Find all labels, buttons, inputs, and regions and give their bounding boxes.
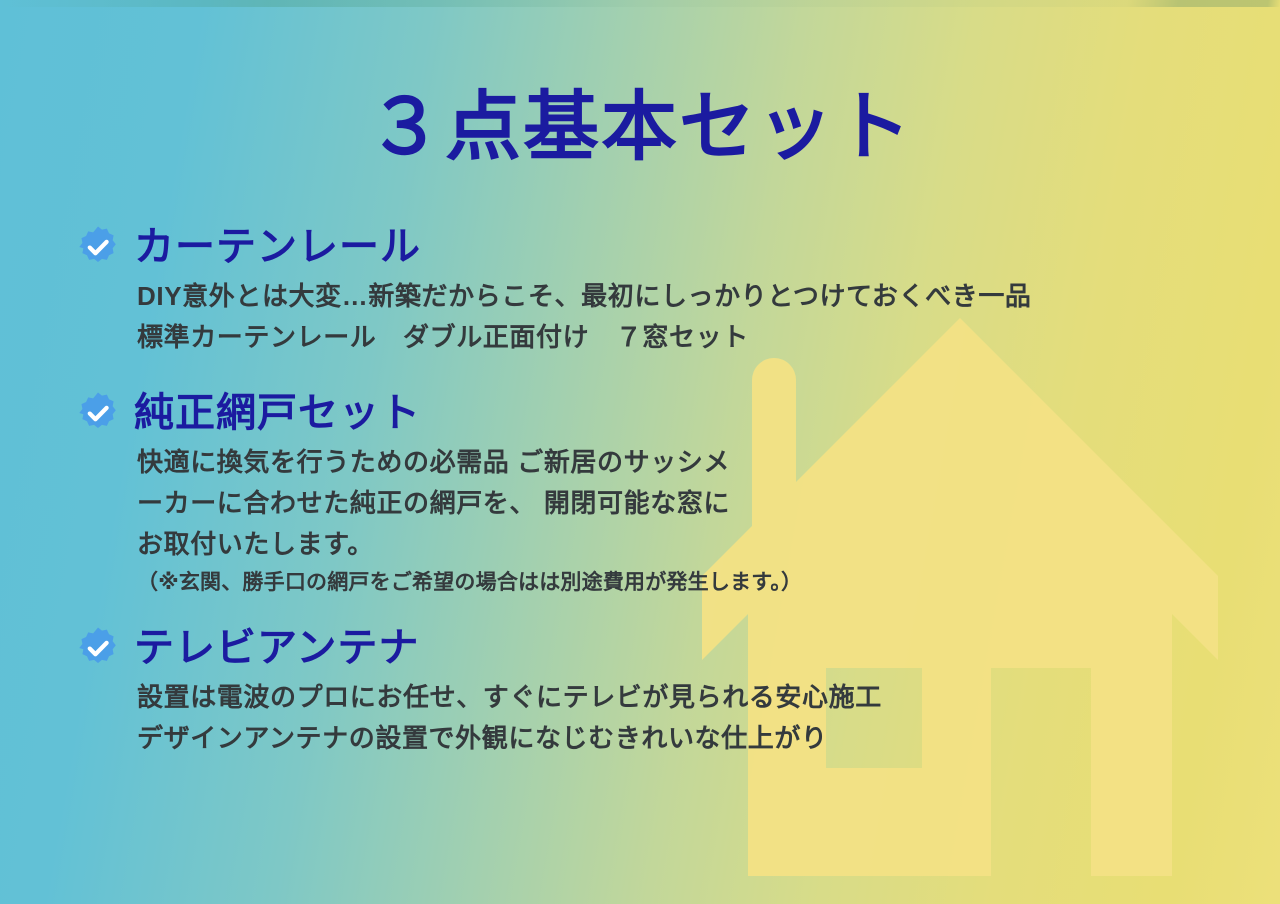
feature-body: DIY意外とは大変…新築だからこそ、最初にしっかりとつけておくべき一品 標準カー… [137, 276, 1266, 358]
feature-line: 設置は電波のプロにお任せ、すぐにテレビが見られる安心施工 [137, 677, 1266, 718]
list-item: テレビアンテナ 設置は電波のプロにお任せ、すぐにテレビが見られる安心施工 デザイ… [76, 623, 1266, 759]
poster-content: ３点基本セット カーテンレール DIY意外とは大変…新築だからこそ、最初にしっか… [0, 0, 1280, 904]
feature-line: お取付いたします。 [137, 524, 1266, 565]
feature-heading: テレビアンテナ [76, 623, 1266, 673]
feature-title: 純正網戸セット [134, 393, 421, 433]
list-item: カーテンレール DIY意外とは大変…新築だからこそ、最初にしっかりとつけておくべ… [76, 222, 1266, 358]
feature-line: デザインアンテナの設置で外観になじむきれいな仕上がり [137, 718, 1266, 759]
verified-check-badge-icon [76, 391, 120, 435]
verified-check-badge-icon [76, 626, 120, 670]
feature-heading: カーテンレール [76, 222, 1266, 272]
feature-list: カーテンレール DIY意外とは大変…新築だからこそ、最初にしっかりとつけておくべ… [76, 222, 1266, 759]
feature-body: 快適に換気を行うための必需品 ご新居のサッシメ ーカーに合わせた純正の網戸を、 … [137, 442, 1266, 599]
list-item: 純正網戸セット 快適に換気を行うための必需品 ご新居のサッシメ ーカーに合わせた… [76, 388, 1266, 599]
feature-line: DIY意外とは大変…新築だからこそ、最初にしっかりとつけておくべき一品 [137, 276, 1266, 317]
feature-line: 標準カーテンレール ダブル正面付け ７窓セット [137, 317, 1266, 358]
feature-title: テレビアンテナ [134, 628, 419, 668]
feature-note: （※玄関、勝手口の網戸をご希望の場合はは別途費用が発生します。） [137, 567, 1266, 599]
feature-title: カーテンレール [134, 227, 421, 267]
page-title: ３点基本セット [0, 88, 1280, 168]
verified-check-badge-icon [76, 225, 120, 269]
feature-line: 快適に換気を行うための必需品 ご新居のサッシメ [137, 442, 1266, 483]
promo-poster: ３点基本セット カーテンレール DIY意外とは大変…新築だからこそ、最初にしっか… [0, 0, 1280, 904]
feature-line: ーカーに合わせた純正の網戸を、 開閉可能な窓に [137, 483, 1266, 524]
feature-body: 設置は電波のプロにお任せ、すぐにテレビが見られる安心施工 デザインアンテナの設置… [137, 677, 1266, 759]
feature-heading: 純正網戸セット [76, 388, 1266, 438]
